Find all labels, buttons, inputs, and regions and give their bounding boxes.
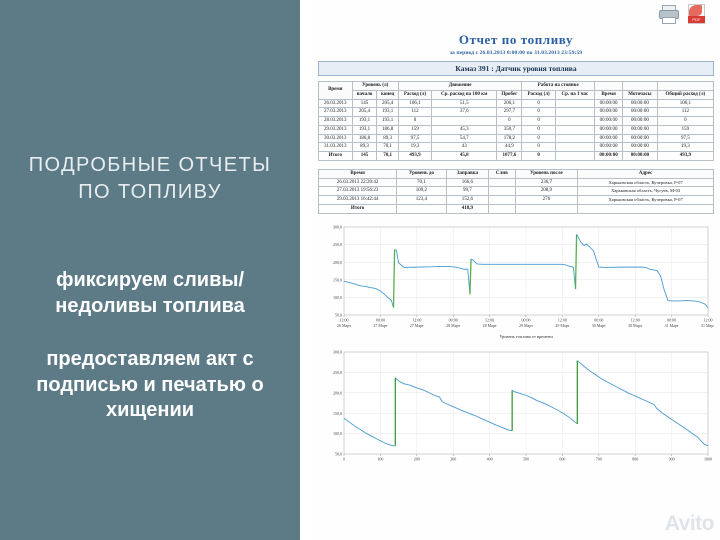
cell-idle_per_hour xyxy=(555,108,594,117)
svg-text:600: 600 xyxy=(559,456,565,461)
svg-text:200,0: 200,0 xyxy=(333,259,342,265)
panel-divider xyxy=(300,0,312,540)
col-level-after: Уровень после xyxy=(515,169,578,178)
report-toolbar: PDF xyxy=(318,4,714,30)
table-row: 26.03.2013 22:20:4270,1166,6236,7Харьков… xyxy=(319,178,714,187)
svg-text:250,0: 250,0 xyxy=(333,242,342,248)
cell-idle_spend: 0 xyxy=(522,99,555,108)
cell-move_per100: 43 xyxy=(432,143,497,152)
svg-text:200: 200 xyxy=(414,456,420,461)
table-row: 30.03.2013186,889,397,554,7178,2000:00:0… xyxy=(319,134,714,143)
cell-address: Харьковская область, Чугуев, М-03 xyxy=(578,187,714,196)
cell-move_per100: 45,8 xyxy=(432,152,497,161)
svg-text:12:00: 12:00 xyxy=(631,317,640,322)
col-event-time: Время xyxy=(319,169,397,178)
cell-mileage: 297,7 xyxy=(497,108,522,117)
cell-refuel: 99,7 xyxy=(446,187,489,196)
svg-text:100: 100 xyxy=(377,456,383,461)
table-row: 29.03.2013193,1186,815945,3350,7000:00:0… xyxy=(319,125,714,134)
svg-text:00:00: 00:00 xyxy=(376,317,385,322)
promo-panel: ПОДРОБНЫЕ ОТЧЕТЫ ПО ТОПЛИВУ фиксируем сл… xyxy=(0,0,300,540)
svg-text:150,0: 150,0 xyxy=(333,410,342,416)
vehicle-header: Камаз 391 : Датчик уровня топлива xyxy=(318,61,714,76)
cell-mileage: 178,2 xyxy=(497,134,522,143)
table-row: 29.03.2013 16:42:44123,4152,6276Харьковс… xyxy=(319,196,714,205)
cell-move_spend: 112 xyxy=(398,108,431,117)
cell-motohours: 00:00:00 xyxy=(623,152,658,161)
svg-text:31 Март: 31 Март xyxy=(701,323,714,328)
col-address: Адрес xyxy=(578,169,714,178)
svg-text:800: 800 xyxy=(632,456,638,461)
svg-text:31 Март: 31 Март xyxy=(665,323,679,328)
svg-text:700: 700 xyxy=(596,456,602,461)
cell-motohours: 00:00:00 xyxy=(623,117,658,126)
cell-idle_per_hour xyxy=(555,152,594,161)
cell-idle_per_hour xyxy=(555,134,594,143)
cell-idle_spend: 0 xyxy=(522,152,555,161)
fuel-summary-table: Время Уровень (л) Движение Работа на сто… xyxy=(318,81,714,161)
svg-text:400: 400 xyxy=(487,456,493,461)
cell-level_before: 109,2 xyxy=(397,187,446,196)
svg-text:100,0: 100,0 xyxy=(333,431,342,437)
cell-move_per100: 54,7 xyxy=(432,134,497,143)
table-row: Итого14570,1493,945,81077,6000:00:0000:0… xyxy=(319,152,714,161)
col-idle-per-hour: Ср. на 1 час xyxy=(555,90,594,99)
cell-time: 30.03.2013 xyxy=(319,134,353,143)
cell-idle_time: 00:00:00 xyxy=(595,99,623,108)
cell-level_after: 236,7 xyxy=(515,178,578,187)
cell-total_spend: 0 xyxy=(657,117,713,126)
table-row: 27.03.2013205,4193,111237,6297,7000:00:0… xyxy=(319,108,714,117)
cell-time: 26.03.2013 22:20:42 xyxy=(319,178,397,187)
svg-text:12:00: 12:00 xyxy=(412,317,421,322)
col-idle-spend: Расход (л) xyxy=(522,90,555,99)
cell-idle_spend: 0 xyxy=(522,143,555,152)
col-total-top xyxy=(657,82,713,91)
svg-text:29 Март: 29 Март xyxy=(519,323,533,328)
cell-mileage: 44,9 xyxy=(497,143,522,152)
cell-level_end: 205,4 xyxy=(377,99,398,108)
col-mileage: Пробег xyxy=(497,90,522,99)
cell-idle_per_hour xyxy=(555,99,594,108)
cell-move_spend: 493,9 xyxy=(398,152,431,161)
col-move-per100: Ср. расход на 100 км xyxy=(432,90,497,99)
cell-level_start: 186,8 xyxy=(352,134,377,143)
table-row: 28.03.2013193,1193,100000:00:0000:00:000 xyxy=(319,117,714,126)
cell-time: 28.03.2013 xyxy=(319,117,353,126)
cell-drain xyxy=(489,204,515,213)
printer-icon[interactable] xyxy=(658,4,680,24)
cell-address: Харьковская область, Кучеровка, Р-07 xyxy=(578,196,714,205)
col-idle-time: Время xyxy=(595,90,623,99)
cell-move_spend: 0 xyxy=(398,117,431,126)
cell-time: Итого xyxy=(319,204,397,213)
svg-text:900: 900 xyxy=(669,456,675,461)
promo-point-1: фиксируем сливы/ недоливы топлива xyxy=(55,268,245,319)
svg-text:28 Март: 28 Март xyxy=(446,323,460,328)
svg-text:29 Март: 29 Март xyxy=(555,323,569,328)
report-title: Отчет по топливу xyxy=(318,32,714,48)
cell-motohours: 00:00:00 xyxy=(623,125,658,134)
fuel-events-table: Время Уровень до Заправка Слив Уровень п… xyxy=(318,169,714,214)
group-idle: Работа на стоянке xyxy=(522,82,595,91)
cell-total_spend: 97,5 xyxy=(657,134,713,143)
svg-text:250,0: 250,0 xyxy=(333,370,342,376)
svg-text:27 Март: 27 Март xyxy=(373,323,387,328)
cell-level_after: 276 xyxy=(515,196,578,205)
cell-level_start: 145 xyxy=(352,99,377,108)
cell-refuel: 418,9 xyxy=(446,204,489,213)
svg-text:00:00: 00:00 xyxy=(594,317,603,322)
cell-total_spend: 159 xyxy=(657,125,713,134)
cell-motohours: 00:00:00 xyxy=(623,108,658,117)
col-refuel: Заправка xyxy=(446,169,489,178)
cell-idle_spend: 0 xyxy=(522,125,555,134)
svg-text:150,0: 150,0 xyxy=(333,277,342,283)
svg-text:500: 500 xyxy=(523,456,529,461)
svg-text:30 Март: 30 Март xyxy=(592,323,606,328)
svg-text:12:00: 12:00 xyxy=(703,317,712,322)
cell-level_after: 208,9 xyxy=(515,187,578,196)
svg-text:12:00: 12:00 xyxy=(558,317,567,322)
cell-move_spend: 159 xyxy=(398,125,431,134)
svg-text:300,0: 300,0 xyxy=(333,224,342,230)
table-group-header-row: Время Уровень (л) Движение Работа на сто… xyxy=(319,82,714,91)
pdf-export-icon[interactable]: PDF xyxy=(686,4,708,24)
col-motohours: Моточасы xyxy=(623,90,658,99)
cell-time: 27.03.2013 xyxy=(319,108,353,117)
col-total-spend: Общий расход (л) xyxy=(657,90,713,99)
svg-text:100,0: 100,0 xyxy=(333,295,342,301)
svg-text:Уровень топлива от времени: Уровень топлива от времени xyxy=(499,334,553,339)
group-level: Уровень (л) xyxy=(352,82,398,91)
col-time: Время xyxy=(319,82,353,100)
col-idle-time-top xyxy=(595,82,623,91)
cell-mileage: 206,1 xyxy=(497,99,522,108)
table-header-row: начало конец Расход (л) Ср. расход на 10… xyxy=(319,90,714,99)
chart-fuel-vs-time: 50,0100,0150,0200,0250,0300,012:0026 Мар… xyxy=(318,221,714,339)
cell-address: Харьковская область, Кучеровка, Р-07 xyxy=(578,178,714,187)
promo-point-2: предоставляем акт с подписью и печатью о… xyxy=(36,347,263,424)
svg-text:00:00: 00:00 xyxy=(449,317,458,322)
cell-move_spend: 97,5 xyxy=(398,134,431,143)
cell-idle_per_hour xyxy=(555,117,594,126)
report-subtitle: за период с 26.03.2013 0:00:00 по 31.03.… xyxy=(318,50,714,56)
cell-time: 29.03.2013 16:42:44 xyxy=(319,196,397,205)
cell-refuel: 166,6 xyxy=(446,178,489,187)
cell-drain xyxy=(489,187,515,196)
col-level-end: конец xyxy=(377,90,398,99)
table-row: 31.03.201389,370,119,34344,9000:00:0000:… xyxy=(319,143,714,152)
cell-move_per100: 45,3 xyxy=(432,125,497,134)
svg-text:12:00: 12:00 xyxy=(339,317,348,322)
cell-idle_spend: 0 xyxy=(522,108,555,117)
slide-root: ПОДРОБНЫЕ ОТЧЕТЫ ПО ТОПЛИВУ фиксируем сл… xyxy=(0,0,720,540)
cell-time: 31.03.2013 xyxy=(319,143,353,152)
report-panel: PDF Отчет по топливу за период с 26.03.2… xyxy=(312,0,720,540)
cell-level_end: 186,8 xyxy=(377,125,398,134)
cell-idle_time: 00:00:00 xyxy=(595,108,623,117)
cell-move_spend: 19,3 xyxy=(398,143,431,152)
cell-idle_per_hour xyxy=(555,143,594,152)
cell-mileage: 1077,6 xyxy=(497,152,522,161)
table-row: Итого418,9 xyxy=(319,204,714,213)
cell-motohours: 00:00:00 xyxy=(623,143,658,152)
col-level-start: начало xyxy=(352,90,377,99)
col-level-before: Уровень до xyxy=(397,169,446,178)
cell-move_per100: 51,5 xyxy=(432,99,497,108)
col-drain: Слив xyxy=(489,169,515,178)
svg-text:26 Март: 26 Март xyxy=(337,323,351,328)
chart-fuel-vs-mileage: 50,0100,0150,0200,0250,0300,001002003004… xyxy=(318,346,714,472)
cell-refuel: 152,6 xyxy=(446,196,489,205)
cell-idle_spend: 0 xyxy=(522,134,555,143)
cell-level_after xyxy=(515,204,578,213)
cell-total_spend: 106,1 xyxy=(657,99,713,108)
cell-move_per100 xyxy=(432,117,497,126)
cell-idle_time: 00:00:00 xyxy=(595,152,623,161)
col-motohours-top xyxy=(623,82,658,91)
cell-idle_time: 00:00:00 xyxy=(595,125,623,134)
cell-move_per100: 37,6 xyxy=(432,108,497,117)
cell-drain xyxy=(489,196,515,205)
cell-level_end: 70,1 xyxy=(377,143,398,152)
col-move-spend: Расход (л) xyxy=(398,90,431,99)
svg-text:200,0: 200,0 xyxy=(333,390,342,396)
pdf-label: PDF xyxy=(688,16,705,23)
watermark: Avito xyxy=(665,512,714,536)
events-header-row: Время Уровень до Заправка Слив Уровень п… xyxy=(319,169,714,178)
cell-level_end: 89,3 xyxy=(377,134,398,143)
cell-level_start: 193,1 xyxy=(352,117,377,126)
cell-motohours: 00:00:00 xyxy=(623,99,658,108)
cell-mileage: 0 xyxy=(497,117,522,126)
cell-idle_per_hour xyxy=(555,125,594,134)
svg-text:50,0: 50,0 xyxy=(335,451,342,457)
cell-mileage: 350,7 xyxy=(497,125,522,134)
svg-text:12:00: 12:00 xyxy=(485,317,494,322)
cell-address xyxy=(578,204,714,213)
table-row: 27.03.2013 19:56:23109,299,7208,9Харьков… xyxy=(319,187,714,196)
cell-total_spend: 112 xyxy=(657,108,713,117)
cell-idle_time: 00:00:00 xyxy=(595,143,623,152)
svg-text:00:00: 00:00 xyxy=(667,317,676,322)
cell-time: 26.03.2013 xyxy=(319,99,353,108)
cell-level_before xyxy=(397,204,446,213)
cell-total_spend: 493,9 xyxy=(657,152,713,161)
cell-move_spend: 106,1 xyxy=(398,99,431,108)
table-row: 26.03.2013145205,4106,151,5206,1000:00:0… xyxy=(319,99,714,108)
svg-text:1000: 1000 xyxy=(704,456,712,461)
cell-level_before: 123,4 xyxy=(397,196,446,205)
cell-total_spend: 19,3 xyxy=(657,143,713,152)
cell-time: 27.03.2013 19:56:23 xyxy=(319,187,397,196)
cell-level_end: 70,1 xyxy=(377,152,398,161)
cell-level_start: 193,1 xyxy=(352,125,377,134)
cell-idle_time: 00:00:00 xyxy=(595,117,623,126)
cell-idle_spend: 0 xyxy=(522,117,555,126)
cell-idle_time: 00:00:00 xyxy=(595,134,623,143)
cell-level_start: 89,3 xyxy=(352,143,377,152)
cell-level_start: 205,4 xyxy=(352,108,377,117)
svg-text:0: 0 xyxy=(343,456,345,461)
cell-level_end: 193,1 xyxy=(377,117,398,126)
cell-level_before: 70,1 xyxy=(397,178,446,187)
cell-time: 29.03.2013 xyxy=(319,125,353,134)
cell-drain xyxy=(489,178,515,187)
group-movement: Движение xyxy=(398,82,522,91)
svg-text:27 Март: 27 Март xyxy=(410,323,424,328)
cell-motohours: 00:00:00 xyxy=(623,134,658,143)
svg-text:00:00: 00:00 xyxy=(521,317,530,322)
promo-headline: ПОДРОБНЫЕ ОТЧЕТЫ ПО ТОПЛИВУ xyxy=(29,152,271,206)
svg-text:28 Март: 28 Март xyxy=(483,323,497,328)
cell-level_start: 145 xyxy=(352,152,377,161)
svg-text:300: 300 xyxy=(450,456,456,461)
cell-level_end: 193,1 xyxy=(377,108,398,117)
cell-time: Итого xyxy=(319,152,353,161)
svg-text:30 Март: 30 Март xyxy=(628,323,642,328)
svg-text:300,0: 300,0 xyxy=(333,349,342,355)
